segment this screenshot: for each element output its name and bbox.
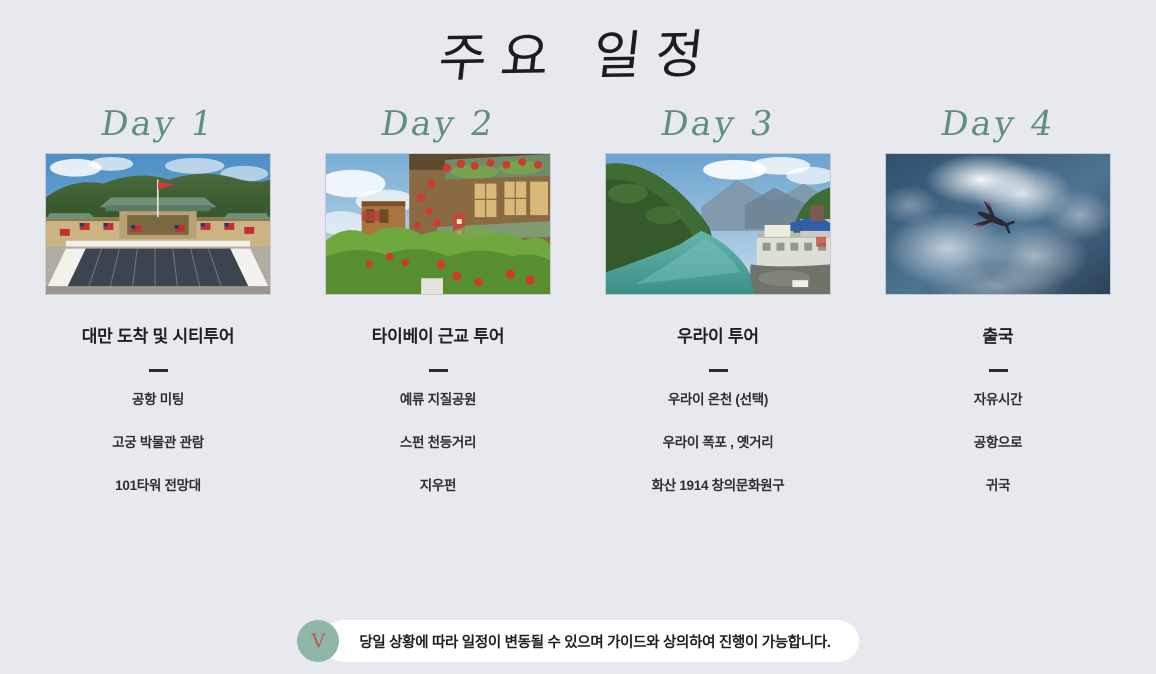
- footnote-bar: V 당일 상황에 따라 일정이 변동될 수 있으며 가이드와 상의하여 진행이 …: [0, 620, 1156, 662]
- airplane-sky-photo: [885, 153, 1111, 295]
- day-label-4: Day 4: [938, 104, 1059, 145]
- day-label-1: Day 1: [98, 104, 219, 145]
- list-item: 귀국: [986, 478, 1010, 494]
- day-title-3: 우라이 투어: [677, 322, 759, 347]
- list-item: 공항 미팅: [132, 392, 184, 408]
- list-item: 예류 지질공원: [400, 392, 476, 408]
- day-label-3: Day 3: [658, 104, 779, 145]
- list-item: 공항으로: [974, 435, 1022, 451]
- day-title-2: 타이베이 근교 투어: [372, 322, 505, 347]
- list-item: 스펀 천등거리: [400, 435, 476, 451]
- day-card-4: Day 4: [858, 104, 1138, 494]
- wulai-river-valley-photo: [605, 153, 831, 295]
- day-title-1: 대만 도착 및 시티투어: [82, 322, 235, 347]
- list-item: 고궁 박물관 관람: [112, 435, 204, 451]
- day-label-2: Day 2: [378, 104, 499, 145]
- jiufen-teahouse-photo: [325, 153, 551, 295]
- day-card-3: Day 3: [578, 104, 858, 494]
- day-items-2: 예류 지질공원 스펀 천등거리 지우펀: [400, 392, 476, 495]
- divider-dash-4: [989, 369, 1008, 372]
- list-item: 우라이 온천 (선택): [668, 392, 768, 408]
- list-item: 101타워 전망대: [115, 478, 201, 494]
- list-item: 지우펀: [420, 478, 456, 494]
- day-card-1: Day 1: [18, 104, 298, 494]
- divider-dash-1: [149, 369, 168, 372]
- page-title: 주요 일정: [0, 14, 1156, 100]
- day-cards-row: Day 1: [0, 104, 1156, 494]
- list-item: 우라이 폭포 , 옛거리: [663, 435, 774, 451]
- footnote-text: 당일 상황에 따라 일정이 변동될 수 있으며 가이드와 상의하여 진행이 가능…: [323, 620, 858, 662]
- footnote-inner: V 당일 상황에 따라 일정이 변동될 수 있으며 가이드와 상의하여 진행이 …: [297, 620, 858, 662]
- national-palace-museum-photo: [45, 153, 271, 295]
- day-title-4: 출국: [983, 322, 1014, 347]
- day-card-2: Day 2: [298, 104, 578, 494]
- list-item: 화산 1914 창의문화원구: [652, 478, 785, 494]
- divider-dash-2: [429, 369, 448, 372]
- day-items-3: 우라이 온천 (선택) 우라이 폭포 , 옛거리 화산 1914 창의문화원구: [652, 392, 785, 495]
- itinerary-slide: { "header": { "title": "주요 일정" }, "days"…: [0, 22, 1156, 674]
- day-items-4: 자유시간 공항으로 귀국: [974, 392, 1022, 495]
- list-item: 자유시간: [974, 392, 1022, 408]
- divider-dash-3: [709, 369, 728, 372]
- day-items-1: 공항 미팅 고궁 박물관 관람 101타워 전망대: [112, 392, 204, 495]
